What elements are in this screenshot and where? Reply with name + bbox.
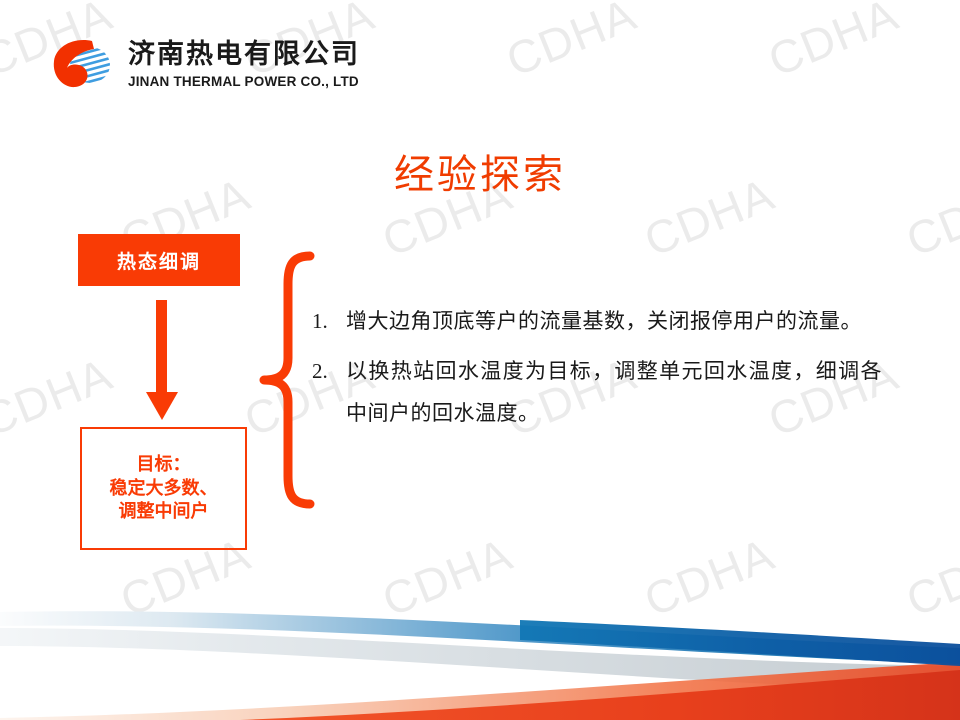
body-list: 1. 增大边角顶底等户的流量基数，关闭报停用户的流量。 2. 以换热站回水温度为…	[312, 300, 882, 442]
down-arrow-icon	[131, 300, 193, 422]
box-hot-tune-label: 热态细调	[117, 247, 201, 274]
left-curly-brace-icon	[234, 250, 320, 510]
list-item: 2. 以换热站回水温度为目标，调整单元回水温度，细调各中间户的回水温度。	[312, 350, 882, 434]
slide-title: 经验探索	[0, 142, 960, 200]
watermark-text: CDHA	[499, 0, 644, 87]
box-goal-line-3: 调整中间户	[119, 500, 209, 523]
bottom-decoration	[0, 600, 960, 720]
slide-canvas: CDHACDHACDHACDHACDHACDHACDHACDHACDHACDHA…	[0, 0, 960, 720]
box-goal-line-1: 目标：	[137, 453, 191, 476]
list-item-text: 增大边角顶底等户的流量基数，关闭报停用户的流量。	[346, 300, 882, 342]
company-name-en: JINAN THERMAL POWER CO., LTD	[128, 74, 360, 89]
box-goal-line-2: 稳定大多数、	[110, 477, 218, 500]
company-logo: 济南热电有限公司 JINAN THERMAL POWER CO., LTD	[48, 32, 360, 96]
list-item-number: 1.	[312, 300, 346, 342]
company-name-cn: 济南热电有限公司	[128, 39, 360, 70]
list-item: 1. 增大边角顶底等户的流量基数，关闭报停用户的流量。	[312, 300, 882, 342]
watermark-text: CDHA	[761, 0, 906, 87]
company-logo-mark	[48, 32, 120, 96]
box-goal: 目标： 稳定大多数、 调整中间户	[80, 427, 247, 550]
list-item-text: 以换热站回水温度为目标，调整单元回水温度，细调各中间户的回水温度。	[346, 350, 882, 434]
company-logo-text: 济南热电有限公司 JINAN THERMAL POWER CO., LTD	[128, 39, 360, 88]
box-hot-tune: 热态细调	[78, 234, 240, 286]
list-item-number: 2.	[312, 350, 346, 392]
